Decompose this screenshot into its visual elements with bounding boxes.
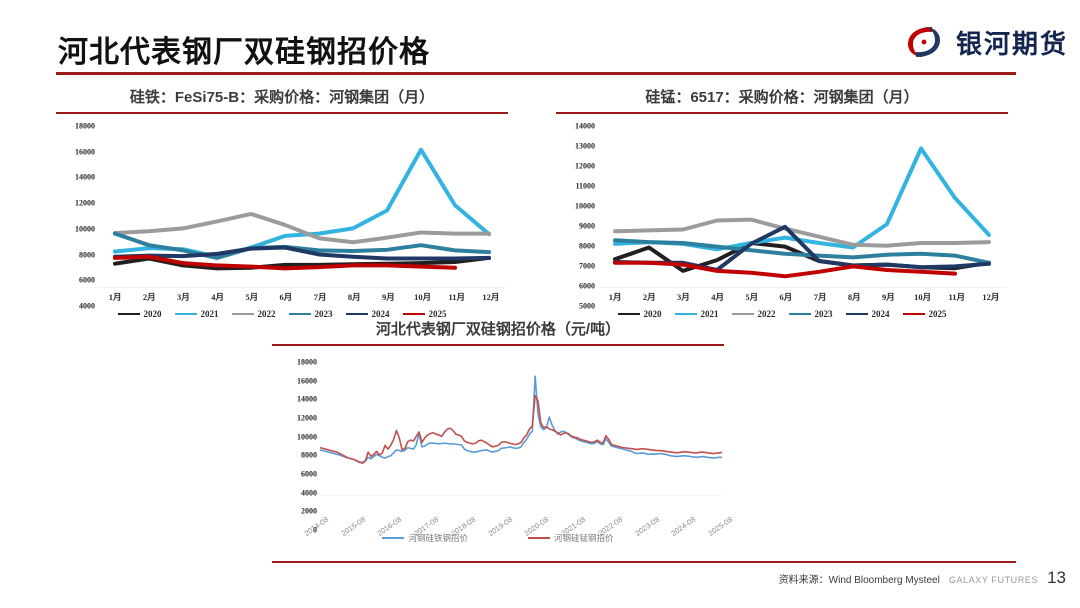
x-tick-label: 10月 (414, 291, 431, 303)
plot-fesi75b: 4000600080001000012000140001600018000 1月… (56, 126, 508, 306)
legend-swatch (528, 537, 550, 539)
series-line (320, 376, 722, 462)
legend-swatch (675, 313, 697, 316)
x-tick-label: 12月 (982, 291, 999, 303)
series-line-2021 (115, 150, 489, 257)
x-tick-label: 12月 (482, 291, 499, 303)
chart-panel-hebei-dual-silicon: 河北代表钢厂双硅钢招价格（元/吨） 0200040006000800010000… (272, 318, 724, 544)
chart-title-rule (272, 344, 724, 346)
y-tick-label: 10000 (297, 432, 317, 441)
title-underline (56, 72, 1016, 75)
y-tick-label: 8000 (301, 451, 317, 460)
x-tick-label: 8月 (348, 291, 361, 303)
legend-swatch (618, 313, 640, 316)
logo-text: 银河期货 (956, 24, 1068, 61)
y-tick-label: 8000 (579, 242, 595, 251)
legend-item-2022[interactable]: 2022 (732, 309, 776, 319)
y-tick-label: 12000 (575, 161, 595, 170)
y-axis-hebei: 0200040006000800010000120001400016000180… (272, 362, 320, 530)
series-line-2022 (115, 214, 489, 242)
legend-swatch (232, 313, 254, 316)
y-tick-label: 18000 (75, 122, 95, 131)
legend-item-2022[interactable]: 2022 (232, 309, 276, 319)
x-tick-label: 2月 (143, 291, 156, 303)
y-tick-label: 12000 (297, 414, 317, 423)
x-tick-label: 11月 (948, 291, 965, 303)
x-tick-label: 9月 (882, 291, 895, 303)
legend-swatch (118, 313, 140, 316)
plot-simn6517: 5000600070008000900010000110001200013000… (556, 126, 1008, 306)
chart-title-rule (56, 112, 508, 114)
legend-swatch (846, 313, 868, 316)
y-tick-label: 8000 (79, 250, 95, 259)
y-tick-label: 6000 (79, 276, 95, 285)
x-tick-label: 1月 (609, 291, 622, 303)
legend-swatch (382, 537, 404, 539)
chart-title-hebei: 河北代表钢厂双硅钢招价格（元/吨） (272, 318, 724, 344)
x-tick-label: 3月 (677, 291, 690, 303)
x-tick-label: 8月 (848, 291, 861, 303)
plot-canvas-hebei (320, 362, 722, 496)
x-tick-label: 6月 (780, 291, 793, 303)
legend-label: 2021 (201, 309, 219, 319)
x-tick-label: 1月 (109, 291, 122, 303)
y-tick-label: 4000 (79, 302, 95, 311)
galaxy-swirl-logo-icon (902, 22, 946, 62)
legend-swatch (732, 313, 754, 316)
x-tick-label: 3月 (177, 291, 190, 303)
legend-label: 2025 (929, 309, 947, 319)
y-tick-label: 4000 (301, 488, 317, 497)
y-axis-simn6517: 5000600070008000900010000110001200013000… (556, 126, 598, 306)
footer-rule (272, 561, 1016, 563)
chart-title-fesi75b: 硅铁：FeSi75-B：采购价格：河钢集团（月） (56, 86, 508, 112)
slide: 河北代表钢厂双硅钢招价格 银河期货 硅铁：FeSi75-B：采购价格：河钢集团（… (0, 0, 1080, 608)
x-axis-fesi75b: 1月2月3月4月5月6月7月8月9月10月11月12月 (98, 290, 508, 306)
x-tick-label: 2月 (643, 291, 656, 303)
legend-swatch (175, 313, 197, 316)
y-tick-label: 13000 (575, 141, 595, 150)
chart-title-rule (556, 112, 1008, 114)
x-tick-label: 10月 (914, 291, 931, 303)
x-tick-label: 9月 (382, 291, 395, 303)
legend-label: 2020 (144, 309, 162, 319)
y-tick-label: 14000 (575, 122, 595, 131)
y-tick-label: 10000 (75, 224, 95, 233)
legend-item-2023[interactable]: 2023 (789, 309, 833, 319)
chart-panel-simn6517: 硅锰：6517：采购价格：河钢集团（月） 5000600070008000900… (556, 86, 1008, 319)
x-tick-label: 11月 (448, 291, 465, 303)
y-tick-label: 9000 (579, 222, 595, 231)
legend-label: 2023 (815, 309, 833, 319)
y-tick-label: 2000 (301, 507, 317, 516)
footer: 资料来源：Wind Bloomberg Mysteel GALAXY FUTUR… (779, 568, 1066, 588)
page-number: 13 (1047, 568, 1066, 588)
company-logo: 银河期货 (902, 22, 1068, 62)
page-title: 河北代表钢厂双硅钢招价格 (58, 27, 430, 71)
legend-item-2020[interactable]: 2020 (118, 309, 162, 319)
chart-title-simn6517: 硅锰：6517：采购价格：河钢集团（月） (556, 86, 1008, 112)
x-tick-label: 4月 (211, 291, 224, 303)
y-tick-label: 16000 (75, 147, 95, 156)
y-axis-fesi75b: 4000600080001000012000140001600018000 (56, 126, 98, 306)
legend-swatch (289, 313, 311, 316)
legend-hebei: 河钢硅铁钢招价河钢硅锰钢招价 (272, 532, 724, 544)
x-tick-label: 6月 (280, 291, 293, 303)
y-tick-label: 7000 (579, 262, 595, 271)
x-axis-simn6517: 1月2月3月4月5月6月7月8月9月10月11月12月 (598, 290, 1008, 306)
legend-item-2021[interactable]: 2021 (175, 309, 219, 319)
brand-text: GALAXY FUTURES (949, 575, 1038, 585)
legend-item-2024[interactable]: 2024 (846, 309, 890, 319)
x-tick-label: 4月 (711, 291, 724, 303)
legend-label: 2022 (758, 309, 776, 319)
chart-panel-fesi75b: 硅铁：FeSi75-B：采购价格：河钢集团（月） 400060008000100… (56, 86, 508, 319)
y-tick-label: 10000 (575, 201, 595, 210)
y-tick-label: 18000 (297, 358, 317, 367)
y-tick-label: 6000 (301, 470, 317, 479)
legend-swatch (346, 313, 368, 316)
plot-hebei: 0200040006000800010000120001400016000180… (272, 362, 724, 530)
y-tick-label: 14000 (297, 395, 317, 404)
y-tick-label: 6000 (579, 281, 595, 290)
y-tick-label: 11000 (575, 182, 595, 191)
y-tick-label: 14000 (75, 173, 95, 182)
x-tick-label: 5月 (745, 291, 758, 303)
y-tick-label: 16000 (297, 376, 317, 385)
y-tick-label: 5000 (579, 302, 595, 311)
x-axis-hebei: 2014-082015-082016-082017-082018-082019-… (320, 496, 724, 530)
legend-swatch (789, 313, 811, 316)
legend-item-2025[interactable]: 2025 (903, 309, 947, 319)
x-tick-label: 7月 (814, 291, 827, 303)
y-tick-label: 12000 (75, 199, 95, 208)
x-tick-label: 7月 (314, 291, 327, 303)
x-tick-label: 5月 (245, 291, 258, 303)
legend-swatch (903, 313, 925, 316)
legend-label: 2024 (872, 309, 890, 319)
legend-swatch (403, 313, 425, 316)
plot-canvas-fesi75b (98, 126, 506, 288)
source-text: 资料来源：Wind Bloomberg Mysteel (779, 571, 940, 586)
plot-canvas-simn6517 (598, 126, 1006, 288)
